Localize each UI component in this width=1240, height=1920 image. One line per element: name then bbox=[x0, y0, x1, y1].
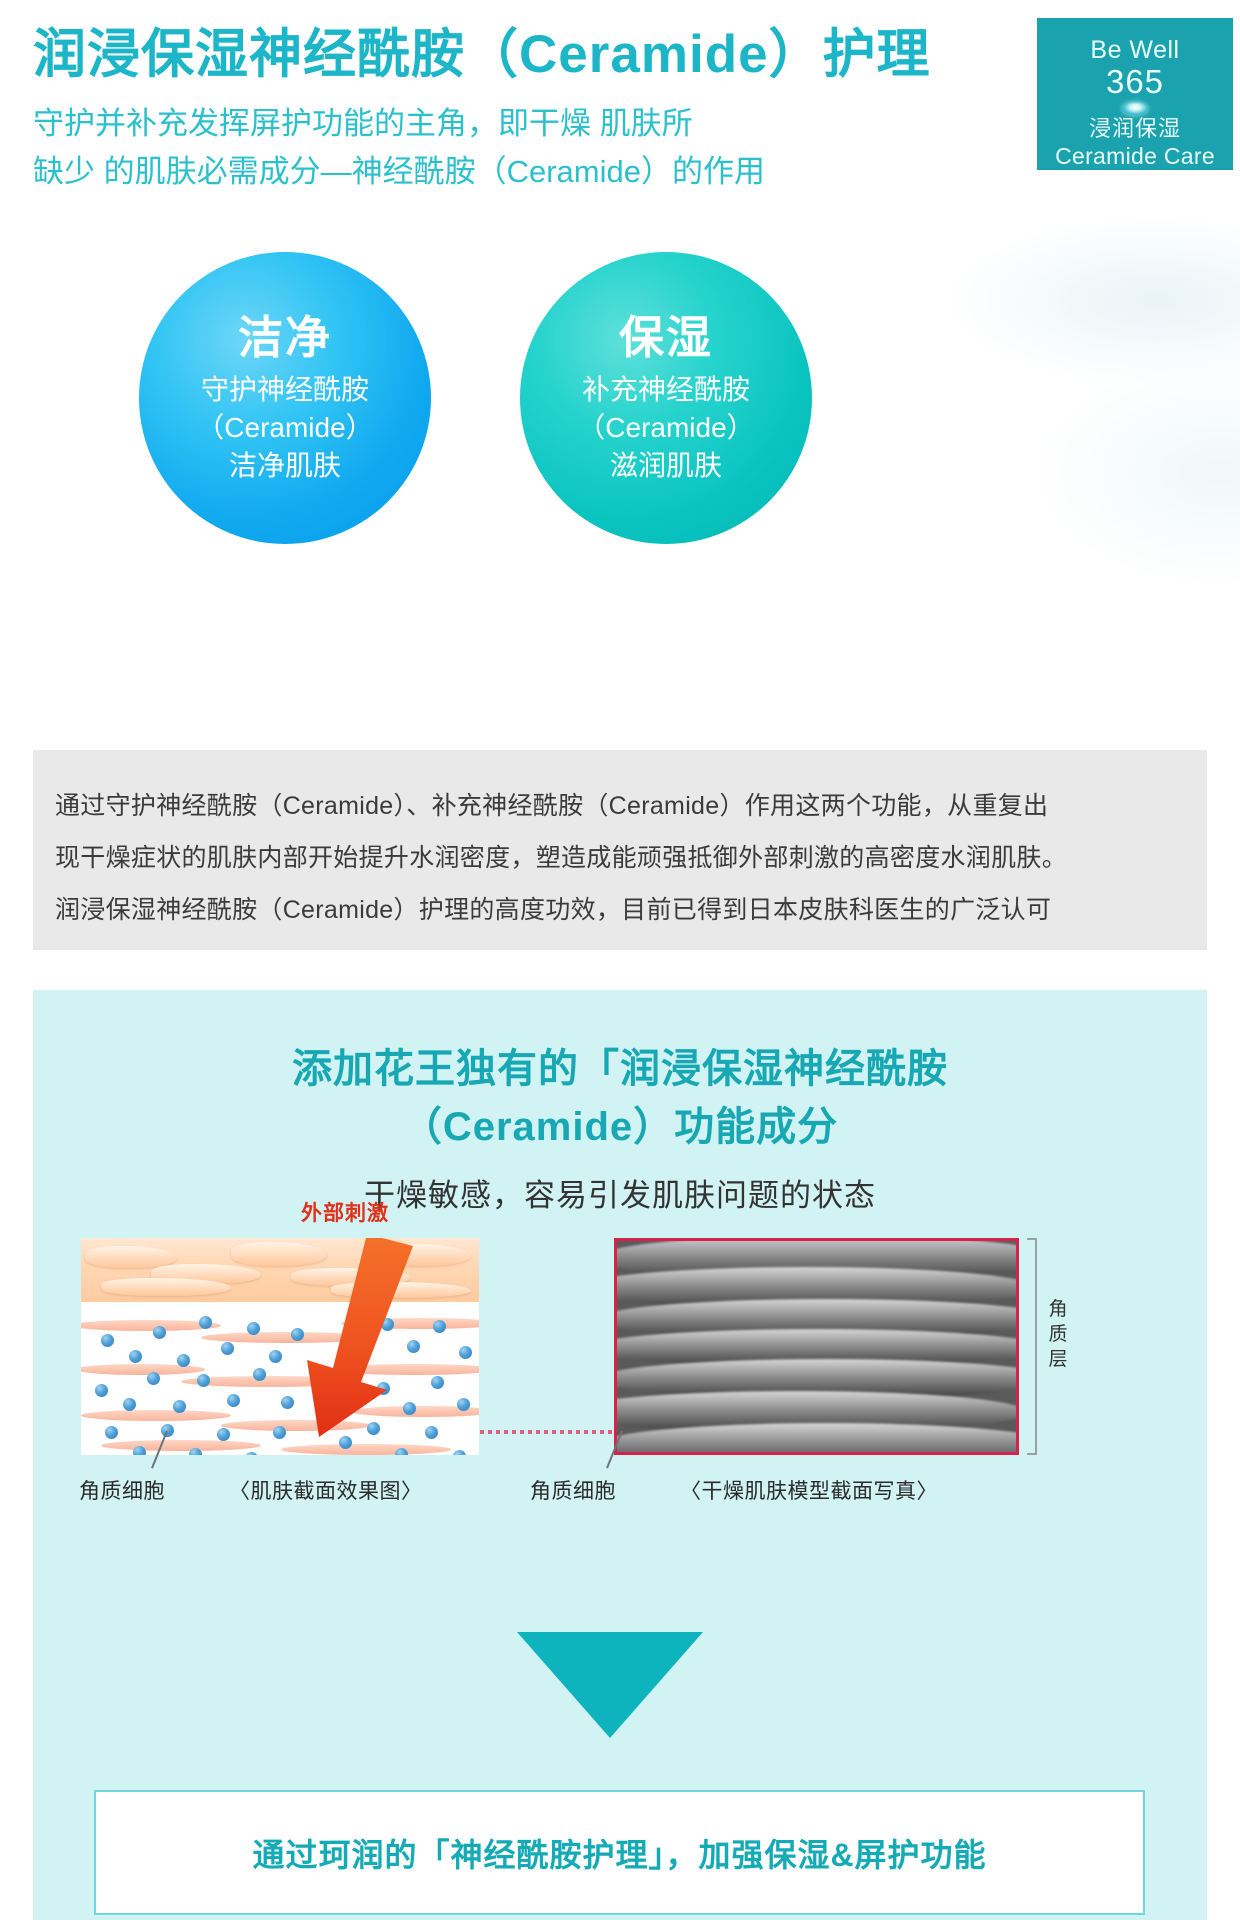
page-subtitle: 守护并补充发挥屏护功能的主角，即干燥 肌肤所 缺少 的肌肤必需成分—神经酰胺（C… bbox=[33, 100, 765, 196]
conclusion-text: 通过珂润的「神经酰胺护理」，加强保湿&屏护功能 bbox=[252, 1830, 986, 1876]
panel-title-line-2: （Ceramide）功能成分 bbox=[33, 1098, 1207, 1156]
description-line-3: 润浸保湿神经酰胺（Ceramide）护理的高度功效，目前已得到日本皮肤科医生的广… bbox=[55, 884, 1185, 936]
conclusion-box: 通过珂润的「神经酰胺护理」，加强保湿&屏护功能 bbox=[94, 1790, 1145, 1915]
description-box: 通过守护神经酰胺（Ceramide）、补充神经酰胺（Ceramide）作用这两个… bbox=[33, 750, 1207, 950]
panel-subtitle: 干燥敏感，容易引发肌肤问题的状态 bbox=[33, 1170, 1207, 1215]
page-subtitle-line-2: 缺少 的肌肤必需成分—神经酰胺（Ceramide）的作用 bbox=[33, 148, 765, 196]
caption-right-cell: 角质细胞 bbox=[530, 1475, 616, 1505]
zoom-connector-dotted-line bbox=[480, 1430, 614, 1434]
bubble-moisture-line-3: 滋润肌肤 bbox=[610, 447, 722, 485]
external-stimulus-label: 外部刺激 bbox=[301, 1197, 389, 1227]
badge-line-cn: 浸润保湿 bbox=[1089, 116, 1181, 142]
water-drop-icon bbox=[1122, 102, 1148, 115]
skin-illustration bbox=[81, 1238, 479, 1455]
description-line-1: 通过守护神经酰胺（Ceramide）、补充神经酰胺（Ceramide）作用这两个… bbox=[55, 780, 1185, 832]
be-well-365-badge: Be Well 365 浸润保湿 Ceramide Care bbox=[1037, 18, 1233, 170]
page-header: 润浸保湿神经酰胺（Ceramide）护理 守护并补充发挥屏护功能的主角，即干燥 … bbox=[0, 0, 1240, 230]
caption-right-title: 〈干燥肌肤模型截面写真〉 bbox=[680, 1475, 938, 1505]
page-subtitle-line-1: 守护并补充发挥屏护功能的主角，即干燥 肌肤所 bbox=[33, 100, 765, 148]
external-stimulus-arrow-wrap bbox=[291, 1238, 421, 1447]
badge-line-be-well: Be Well bbox=[1090, 36, 1179, 64]
bubble-moisture-line-2: （Ceramide） bbox=[577, 409, 754, 447]
caption-left-title: 〈肌肤截面效果图〉 bbox=[229, 1475, 423, 1505]
page-title: 润浸保湿神经酰胺（Ceramide）护理 bbox=[33, 12, 931, 88]
badge-line-en: Ceramide Care bbox=[1055, 142, 1215, 170]
bubble-clean: 洁净 守护神经酰胺 （Ceramide） 洁净肌肤 bbox=[139, 252, 431, 544]
sem-photo bbox=[614, 1238, 1019, 1455]
ceramide-panel: 添加花王独有的「润浸保湿神经酰胺 （Ceramide）功能成分 干燥敏感，容易引… bbox=[33, 990, 1207, 1920]
bubble-moisture-line-1: 补充神经酰胺 bbox=[582, 371, 750, 409]
skin-cross-section-diagram: 肌肤表面 角质层 bbox=[33, 1225, 1207, 1515]
benefit-bubbles: 洁净 守护神经酰胺 （Ceramide） 洁净肌肤 保湿 补充神经酰胺 （Cer… bbox=[0, 240, 1240, 620]
external-stimulus-arrow-icon bbox=[291, 1238, 421, 1447]
caption-left-cell: 角质细胞 bbox=[79, 1475, 165, 1505]
description-line-2: 现干燥症状的肌肤内部开始提升水润密度，塑造成能顽强抵御外部刺激的高密度水润肌肤。 bbox=[55, 832, 1185, 884]
badge-line-365: 365 bbox=[1106, 64, 1164, 100]
bubble-clean-heading: 洁净 bbox=[238, 311, 332, 365]
panel-title-line-1: 添加花王独有的「润浸保湿神经酰胺 bbox=[33, 1040, 1207, 1098]
bubble-clean-line-2: （Ceramide） bbox=[196, 409, 373, 447]
down-triangle-icon bbox=[517, 1632, 703, 1738]
panel-title: 添加花王独有的「润浸保湿神经酰胺 （Ceramide）功能成分 bbox=[33, 1040, 1207, 1156]
bubble-clean-line-3: 洁净肌肤 bbox=[229, 447, 341, 485]
label-stratum-corneum-right: 角质层 bbox=[1045, 1297, 1071, 1372]
bubble-clean-line-1: 守护神经酰胺 bbox=[201, 371, 369, 409]
bubble-moisture-heading: 保湿 bbox=[619, 311, 713, 365]
bracket-stratum-corneum-right bbox=[1027, 1238, 1037, 1455]
bubble-moisture: 保湿 补充神经酰胺 （Ceramide） 滋润肌肤 bbox=[520, 252, 812, 544]
